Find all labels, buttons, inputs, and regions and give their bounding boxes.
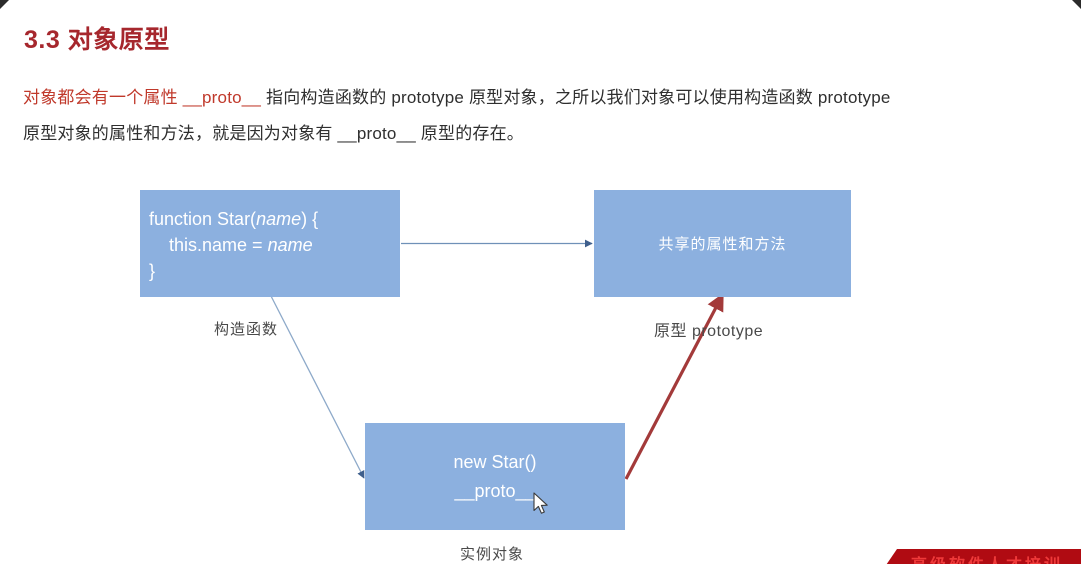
node-instance-line-2: __proto__ [454, 477, 535, 506]
node-instance-line-1: new Star() [453, 448, 536, 477]
constructor-code-block: function Star(name) { this.name = name } [149, 206, 318, 284]
node-prototype-object[interactable]: 共享的属性和方法 [594, 190, 851, 297]
code-line-1-suffix: ) { [301, 209, 318, 229]
code-line-2-prefix: this.name = [149, 235, 268, 255]
code-line-2-param: name [268, 235, 313, 255]
node-constructor-function[interactable]: function Star(name) { this.name = name } [140, 190, 400, 297]
ribbon-text: 高级软件人才培训 [911, 551, 1063, 564]
slide-page: 3.3 对象原型 对象都会有一个属性 __proto__ 指向构造函数的 pro… [0, 0, 1081, 564]
node-prototype-label: 共享的属性和方法 [658, 233, 786, 254]
node-instance-object[interactable]: new Star() __proto__ [365, 423, 625, 530]
bottom-right-ribbon: 高级软件人才培训 [884, 549, 1081, 564]
code-line-1-param: name [256, 209, 301, 229]
prototype-diagram: function Star(name) { this.name = name }… [0, 0, 1081, 564]
caption-prototype: 原型 prototype [654, 317, 763, 341]
arrow-constructor-to-instance [271, 296, 364, 478]
code-line-1-prefix: function Star( [149, 209, 256, 229]
code-line-3: } [149, 261, 155, 281]
caption-instance: 实例对象 [460, 543, 524, 564]
caption-constructor: 构造函数 [214, 318, 278, 339]
